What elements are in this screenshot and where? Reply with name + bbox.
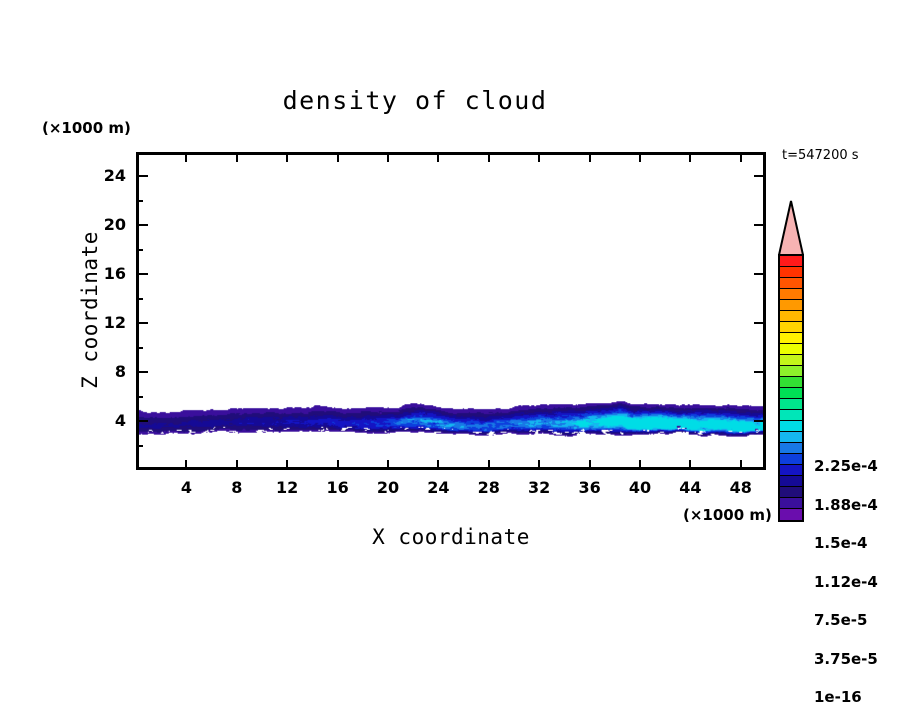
colorbar-band <box>780 278 802 289</box>
colorbar-band <box>780 487 802 498</box>
x-tick-mark <box>236 460 238 470</box>
x-tick-label: 12 <box>265 478 309 497</box>
colorbar-band <box>780 322 802 333</box>
y-tick-mark <box>136 322 148 324</box>
cloud-density-field <box>139 155 763 467</box>
x-tick-label: 48 <box>719 478 763 497</box>
colorbar-tick-label: 2.25e-4 <box>814 457 878 475</box>
x-tick-label: 44 <box>668 478 712 497</box>
colorbar-band <box>780 498 802 509</box>
colorbar-tick-label: 1.88e-4 <box>814 496 878 514</box>
y-tick-mark <box>136 420 148 422</box>
y-minor-tick <box>136 200 143 202</box>
y-tick-mark <box>136 273 148 275</box>
colorbar-band <box>780 465 802 476</box>
colorbar-band <box>780 443 802 454</box>
timestamp-annotation: t=547200 s <box>782 148 859 163</box>
y-tick-label: 4 <box>82 411 126 430</box>
plot-area <box>136 152 766 470</box>
chart-title: density of cloud <box>0 86 830 115</box>
x-tick-mark-top <box>538 152 540 162</box>
colorbar-band <box>780 476 802 487</box>
x-tick-mark-top <box>488 152 490 162</box>
y-minor-tick <box>136 298 143 300</box>
x-tick-mark-top <box>437 152 439 162</box>
y-tick-label: 12 <box>82 313 126 332</box>
colorbar-band <box>780 366 802 377</box>
colorbar-tick-label: 1e-16 <box>814 688 862 706</box>
colorbar-band <box>780 388 802 399</box>
y-tick-mark <box>136 371 148 373</box>
colorbar-band <box>780 355 802 366</box>
colorbar-band <box>780 454 802 465</box>
x-tick-mark <box>689 460 691 470</box>
colorbar-band <box>780 377 802 388</box>
x-tick-mark <box>286 460 288 470</box>
x-tick-label: 8 <box>215 478 259 497</box>
x-tick-label: 20 <box>366 478 410 497</box>
y-tick-mark <box>136 224 148 226</box>
colorbar-band <box>780 289 802 300</box>
x-tick-label: 32 <box>517 478 561 497</box>
colorbar-tick-label: 1.5e-4 <box>814 534 867 552</box>
x-tick-mark-top <box>286 152 288 162</box>
y-minor-tick <box>136 445 143 447</box>
x-tick-mark-top <box>689 152 691 162</box>
y-minor-tick <box>136 347 143 349</box>
x-tick-mark-top <box>185 152 187 162</box>
x-tick-mark <box>185 460 187 470</box>
colorbar-band <box>780 399 802 410</box>
y-minor-tick <box>136 396 143 398</box>
x-tick-label: 4 <box>164 478 208 497</box>
x-tick-label: 36 <box>568 478 612 497</box>
x-tick-mark-top <box>639 152 641 162</box>
x-tick-mark-top <box>740 152 742 162</box>
x-tick-mark <box>740 460 742 470</box>
colorbar-band <box>780 311 802 322</box>
x-tick-mark-top <box>589 152 591 162</box>
colorbar-overflow-arrow <box>778 200 804 256</box>
colorbar-band <box>780 410 802 421</box>
colorbar-tick-label: 3.75e-5 <box>814 650 878 668</box>
y-minor-tick <box>136 249 143 251</box>
y-tick-label: 16 <box>82 264 126 283</box>
y-tick-label: 20 <box>82 215 126 234</box>
x-tick-label: 40 <box>618 478 662 497</box>
colorbar-band <box>780 421 802 432</box>
colorbar-band <box>780 344 802 355</box>
y-tick-mark-right <box>754 371 766 373</box>
colorbar-tick-label: 1.12e-4 <box>814 573 878 591</box>
x-tick-mark-top <box>236 152 238 162</box>
colorbar-bands <box>778 254 804 522</box>
x-tick-mark <box>337 460 339 470</box>
colorbar-band <box>780 333 802 344</box>
x-tick-mark <box>488 460 490 470</box>
x-tick-mark <box>639 460 641 470</box>
colorbar-band <box>780 267 802 278</box>
y-tick-mark-right <box>754 224 766 226</box>
x-tick-mark <box>538 460 540 470</box>
x-tick-label: 16 <box>316 478 360 497</box>
x-tick-mark-top <box>387 152 389 162</box>
x-tick-mark-top <box>337 152 339 162</box>
x-tick-label: 28 <box>467 478 511 497</box>
x-axis-title: X coordinate <box>136 525 766 549</box>
x-tick-label: 24 <box>416 478 460 497</box>
colorbar-tick-label: 7.5e-5 <box>814 611 867 629</box>
y-tick-label: 24 <box>82 166 126 185</box>
colorbar-band <box>780 300 802 311</box>
y-tick-mark-right <box>754 175 766 177</box>
colorbar-band <box>780 256 802 267</box>
y-tick-label: 8 <box>82 362 126 381</box>
y-tick-mark <box>136 175 148 177</box>
y-tick-mark-right <box>754 420 766 422</box>
x-tick-mark <box>437 460 439 470</box>
colorbar-band <box>780 509 802 520</box>
colorbar-band <box>780 432 802 443</box>
x-tick-mark <box>387 460 389 470</box>
y-tick-mark-right <box>754 273 766 275</box>
x-tick-mark <box>589 460 591 470</box>
y-tick-mark-right <box>754 322 766 324</box>
x-axis-units-label: (×1000 m) <box>683 506 772 524</box>
y-axis-units-label: (×1000 m) <box>42 119 131 137</box>
